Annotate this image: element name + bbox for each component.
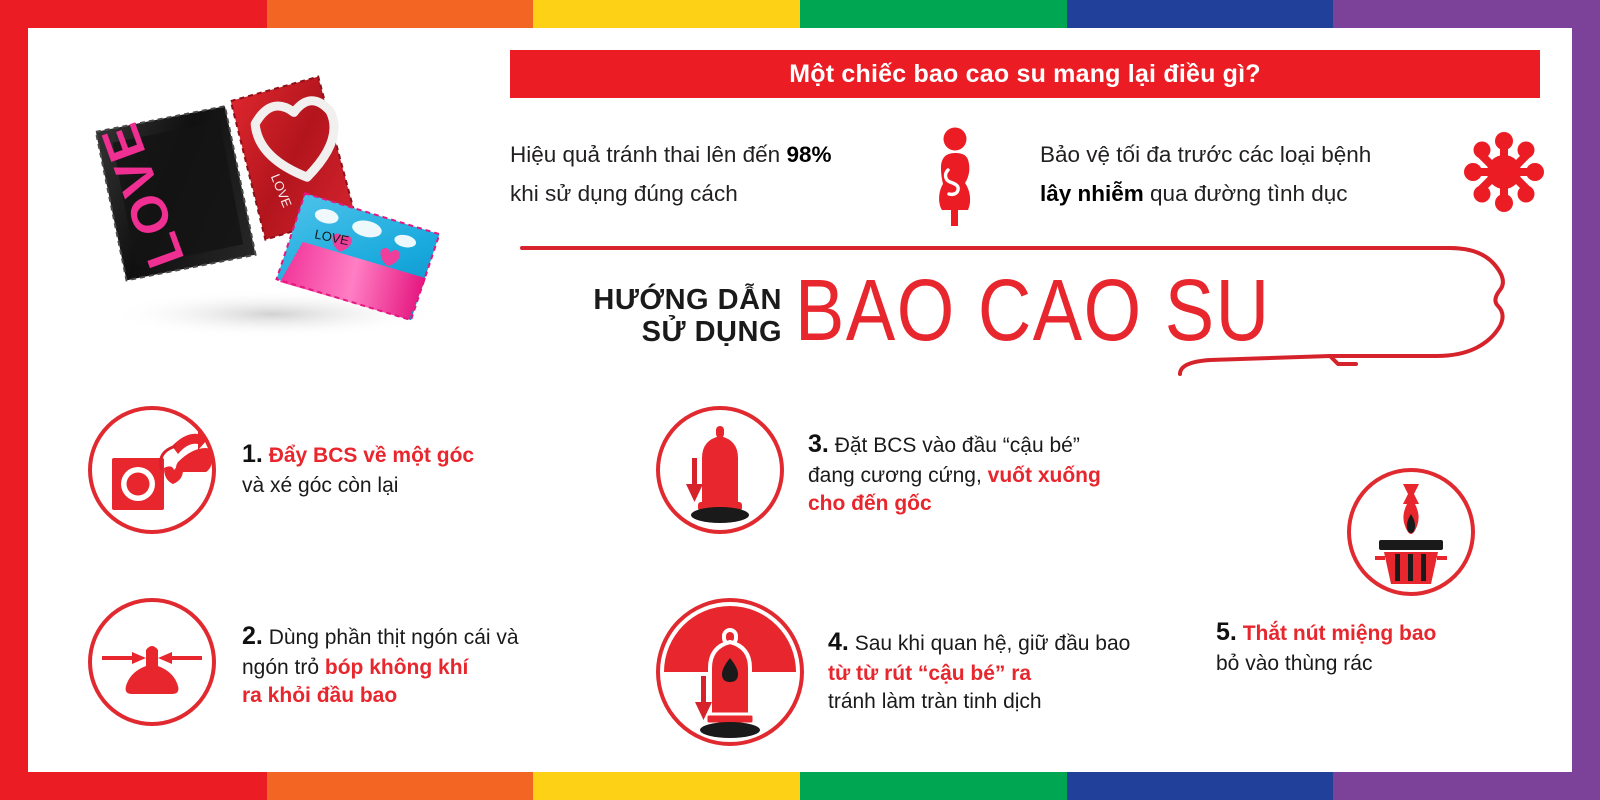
rainbow-swatch-red [0,772,267,800]
step-3-highlight-1: vuốt xuống [988,464,1101,487]
step-1-text: 1. Đẩy BCS về một góc và xé góc còn lại [242,438,572,500]
step-1-highlight: Đẩy BCS về một góc [269,444,474,467]
tie-knot-trash-icon [1351,472,1471,592]
step-3-plain-1: Đặt BCS vào đầu “cậu bé” [835,434,1080,457]
rainbow-border-right [1572,0,1600,800]
benefit-1-line1-prefix: Hiệu quả tránh thai lên đến [510,142,786,167]
step-2-plain-1: Dùng phần thịt ngón cái và [269,626,519,649]
rainbow-swatch-yellow [533,772,800,800]
step-2-highlight-1: bóp không khí [325,656,468,679]
header-title-bar: Một chiếc bao cao su mang lại điều gì? [510,50,1540,98]
step-5-icon-circle [1347,468,1475,596]
rainbow-swatch-yellow [533,0,800,28]
title-big: BAO CAO SU [795,267,1271,354]
pregnant-woman-icon [925,126,981,226]
rainbow-swatch-blue [1067,772,1334,800]
benefit-2-line1: Bảo vệ tối đa trước các loại bệnh [1040,142,1371,167]
step-5-plain: bỏ vào thùng rác [1216,652,1372,675]
benefit-std-text: Bảo vệ tối đa trước các loại bệnh lây nh… [1040,136,1371,213]
step-4-icon-circle [656,598,804,746]
condom-roll-down-icon [660,410,780,530]
pinch-tip-arrows-icon [92,602,212,722]
step-5-number: 5. [1216,618,1237,646]
step-1-icon-circle [88,406,216,534]
step-3-text: 3. Đặt BCS vào đầu “cậu bé” đang cương c… [808,428,1198,518]
step-2-plain-2: ngón trỏ [242,656,325,679]
step-4: 4. Sau khi quan hệ, giữ đầu bao từ từ rú… [656,598,1228,746]
step-2: 2. Dùng phần thịt ngón cái và ngón trỏ b… [88,598,602,726]
step-3-plain-2: đang cương cứng, [808,464,988,487]
step-4-number: 4. [828,628,849,656]
rainbow-border-bottom [0,772,1600,800]
rainbow-swatch-orange [267,772,534,800]
step-4-plain-2: tránh làm tràn tinh dịch [828,690,1042,713]
rainbow-swatch-purple [1333,772,1600,800]
benefit-contraception: Hiệu quả tránh thai lên đến 98% khi sử d… [510,120,910,230]
rainbow-swatch-green [800,772,1067,800]
benefit-2-bold: lây nhiễm [1040,181,1144,206]
condom-packets-photo: LOVE LOVE [58,56,478,346]
condom-packet-tear-icon [92,410,212,530]
benefits-row: Hiệu quả tránh thai lên đến 98% khi sử d… [510,120,1550,230]
virus-icon [1460,132,1548,212]
benefit-contraception-text: Hiệu quả tránh thai lên đến 98% khi sử d… [510,136,832,213]
rainbow-swatch-orange [267,0,534,28]
benefit-1-percent: 98% [786,142,831,167]
step-3-highlight-2: cho đến gốc [808,492,932,515]
step-5-highlight: Thắt nút miệng bao [1243,622,1437,645]
step-1: 1. Đẩy BCS về một góc và xé góc còn lại [88,406,572,534]
infographic-root: LOVE LOVE [0,0,1600,800]
title-small: HƯỚNG DẪN SỬ DỤNG [540,284,782,349]
step-3-icon-circle [656,406,784,534]
title-small-line1: HƯỚNG DẪN [540,284,782,316]
step-2-highlight-2: ra khỏi đầu bao [242,684,397,707]
step-5: 5. Thắt nút miệng bao bỏ vào thùng rác [1276,468,1546,678]
step-1-number: 1. [242,440,263,468]
rainbow-border-top [0,0,1600,28]
main-title-block: HƯỚNG DẪN SỬ DỤNG BAO CAO SU [510,240,1550,386]
content-canvas: LOVE LOVE [28,28,1572,772]
rainbow-swatch-green [800,0,1067,28]
step-2-icon-circle [88,598,216,726]
benefit-1-line2: khi sử dụng đúng cách [510,181,738,206]
benefit-2-line2-suffix: qua đường tình dục [1144,181,1348,206]
step-1-plain: và xé góc còn lại [242,474,398,497]
step-2-text: 2. Dùng phần thịt ngón cái và ngón trỏ b… [242,620,602,710]
step-4-highlight: từ từ rút “cậu bé” ra [828,662,1031,685]
rainbow-swatch-purple [1333,0,1600,28]
step-4-plain-1: Sau khi quan hệ, giữ đầu bao [855,632,1131,655]
step-3: 3. Đặt BCS vào đầu “cậu bé” đang cương c… [656,406,1198,534]
title-small-line2: SỬ DỤNG [540,316,782,348]
step-2-number: 2. [242,622,263,650]
step-4-text: 4. Sau khi quan hệ, giữ đầu bao từ từ rú… [828,626,1228,716]
rainbow-swatch-blue [1067,0,1334,28]
step-5-text: 5. Thắt nút miệng bao bỏ vào thùng rác [1216,616,1546,678]
rainbow-swatch-red [0,0,267,28]
withdraw-hold-base-icon [660,602,800,742]
step-3-number: 3. [808,430,829,458]
rainbow-border-left [0,0,28,800]
benefit-std-protection: Bảo vệ tối đa trước các loại bệnh lây nh… [1040,120,1440,230]
header-title-text: Một chiếc bao cao su mang lại điều gì? [789,60,1261,89]
